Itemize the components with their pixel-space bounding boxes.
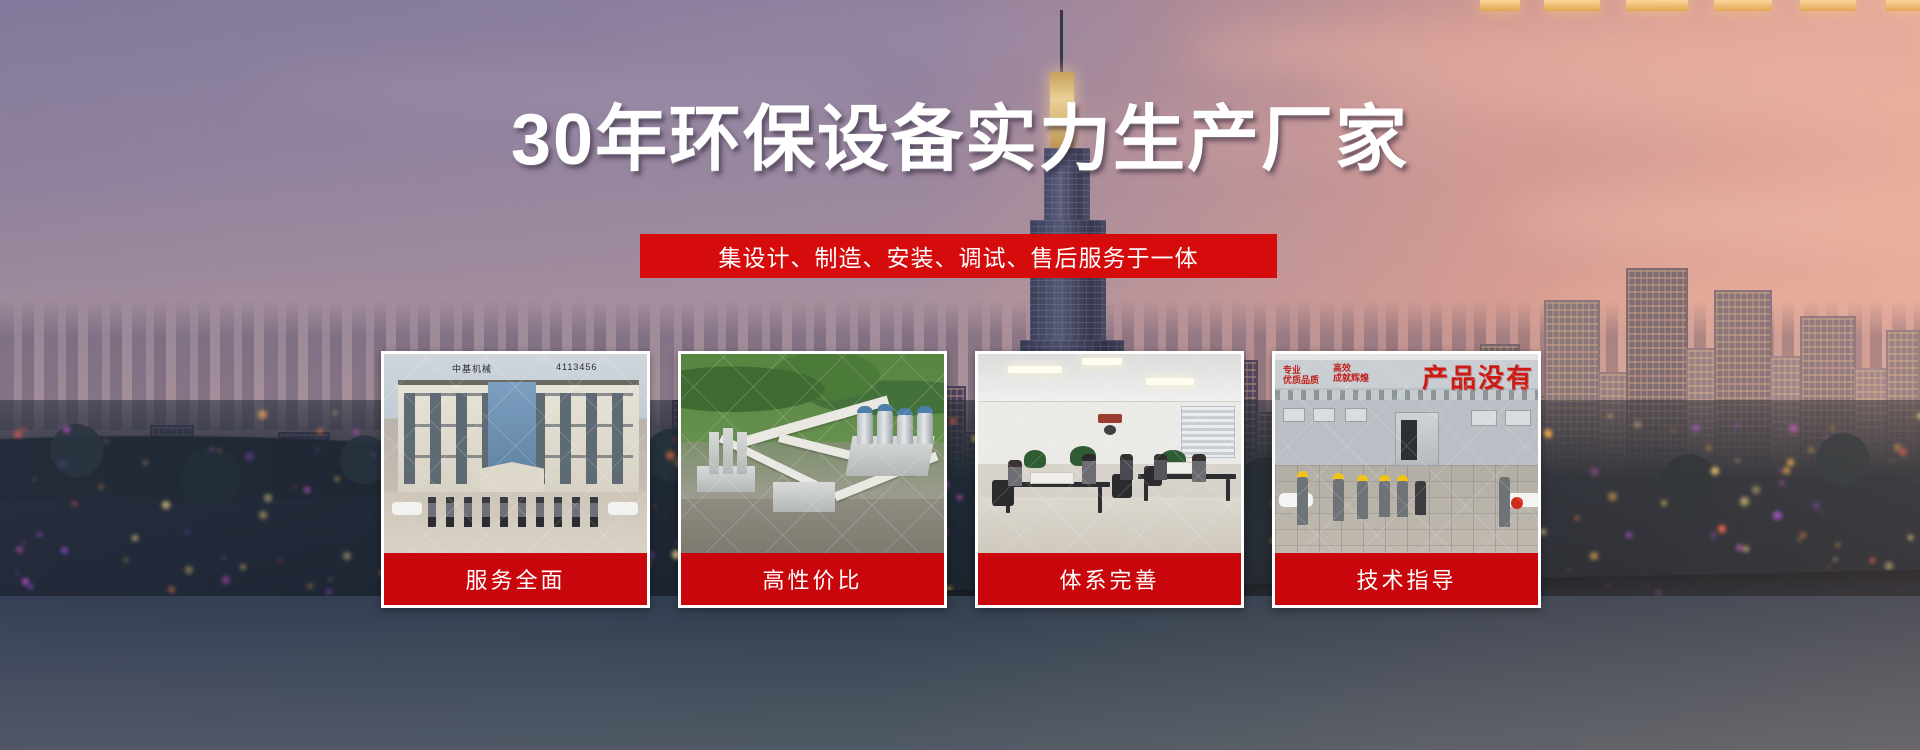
card-label-guidance: 技术指导 — [1275, 553, 1538, 605]
card-photo-industrial-plant — [681, 354, 944, 553]
card-label-service: 服务全面 — [384, 553, 647, 605]
photo-text-building-phone: 4113456 — [556, 362, 597, 372]
photo-text-building-logo: 中基机械 — [452, 362, 492, 375]
card-photo-factory-workers: 产品没有 专业优质品质 高效成就辉煌 — [1275, 354, 1538, 553]
feature-card-service[interactable]: 中基机械 4113456 服务全面 — [381, 351, 650, 608]
photo-text-wall-headline: 产品没有 — [1422, 358, 1534, 395]
card-photo-office-interior — [978, 354, 1241, 553]
card-label-value: 高性价比 — [681, 553, 944, 605]
banner-content: 30年环保设备实力生产厂家 集设计、制造、安装、调试、售后服务于一体 中基机械 … — [0, 0, 1920, 750]
feature-card-list: 中基机械 4113456 服务全面 — [381, 351, 1541, 608]
banner-headline: 30年环保设备实力生产厂家 — [0, 104, 1920, 176]
banner-subtitle-bar: 集设计、制造、安装、调试、售后服务于一体 — [640, 234, 1277, 278]
wall-decal — [1096, 414, 1124, 440]
hero-banner: 30年环保设备实力生产厂家 集设计、制造、安装、调试、售后服务于一体 中基机械 … — [0, 0, 1920, 750]
card-photo-headquarters: 中基机械 4113456 — [384, 354, 647, 553]
feature-card-system[interactable]: 体系完善 — [975, 351, 1244, 608]
card-label-system: 体系完善 — [978, 553, 1241, 605]
feature-card-guidance[interactable]: 产品没有 专业优质品质 高效成就辉煌 — [1272, 351, 1541, 608]
feature-card-value[interactable]: 高性价比 — [678, 351, 947, 608]
banner-subtitle-text: 集设计、制造、安装、调试、售后服务于一体 — [719, 239, 1199, 273]
